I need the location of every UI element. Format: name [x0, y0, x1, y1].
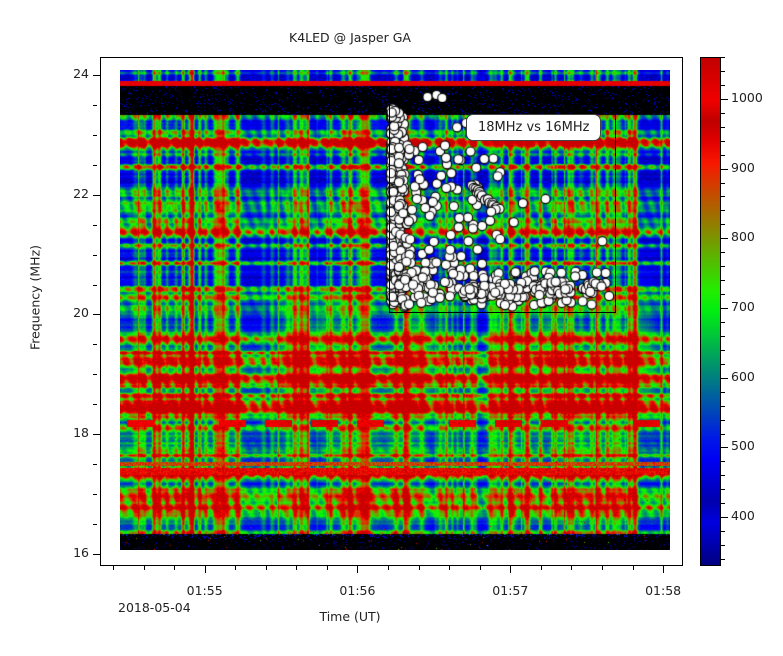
- y-tick-label: 18: [29, 425, 89, 440]
- y-tick-major: [93, 314, 100, 315]
- colorbar-tick-major: [721, 447, 728, 448]
- x-tick-minor: [571, 566, 572, 570]
- x-tick-major: [663, 566, 664, 573]
- colorbar-tick-minor: [721, 183, 725, 184]
- colorbar-tick-minor: [721, 196, 725, 197]
- y-tick-minor: [93, 524, 97, 525]
- x-tick-minor: [235, 566, 236, 570]
- colorbar-tick-minor: [721, 531, 725, 532]
- y-tick-major: [93, 434, 100, 435]
- y-tick-minor: [93, 404, 97, 405]
- x-tick-label: 01:56: [317, 583, 397, 598]
- x-tick-major: [357, 566, 358, 573]
- colorbar-tick-major: [721, 99, 728, 100]
- colorbar-tick-minor: [721, 280, 725, 281]
- colorbar-tick-minor: [721, 294, 725, 295]
- colorbar-tick-minor: [721, 224, 725, 225]
- colorbar-tick-minor: [721, 392, 725, 393]
- colorbar-tick-minor: [721, 252, 725, 253]
- x-tick-label: 01:58: [623, 583, 703, 598]
- y-axis-title: Frequency (MHz): [28, 203, 43, 393]
- colorbar-tick-major: [721, 169, 728, 170]
- y-tick-minor: [93, 285, 97, 286]
- colorbar-tick-minor: [721, 545, 725, 546]
- y-tick-minor: [93, 494, 97, 495]
- x-tick-minor: [419, 566, 420, 570]
- colorbar-tick-label: 400: [731, 508, 755, 523]
- colorbar-tick-minor: [721, 559, 725, 560]
- x-tick-minor: [296, 566, 297, 570]
- y-tick-minor: [93, 464, 97, 465]
- y-tick-minor: [93, 225, 97, 226]
- y-tick-label: 22: [29, 186, 89, 201]
- x-tick-minor: [174, 566, 175, 570]
- colorbar-tick-label: 800: [731, 229, 755, 244]
- y-tick-major: [93, 195, 100, 196]
- colorbar-tick-minor: [721, 364, 725, 365]
- colorbar-tick-label: 1000: [731, 90, 763, 105]
- colorbar-tick-minor: [721, 266, 725, 267]
- x-tick-minor: [602, 566, 603, 570]
- colorbar-tick-minor: [721, 57, 725, 58]
- page-title: K4LED @ Jasper GA: [0, 30, 700, 45]
- x-tick-minor: [449, 566, 450, 570]
- colorbar-tick-label: 500: [731, 438, 755, 453]
- y-tick-minor: [93, 165, 97, 166]
- y-tick-minor: [93, 344, 97, 345]
- y-tick-label: 16: [29, 545, 89, 560]
- x-tick-minor: [266, 566, 267, 570]
- x-tick-major: [205, 566, 206, 573]
- x-tick-minor: [541, 566, 542, 570]
- x-tick-minor: [327, 566, 328, 570]
- colorbar-tick-label: 600: [731, 369, 755, 384]
- x-tick-minor: [144, 566, 145, 570]
- colorbar-tick-minor: [721, 113, 725, 114]
- spectrogram-image: [120, 70, 670, 550]
- x-tick-label: 01:57: [470, 583, 550, 598]
- y-tick-major: [93, 75, 100, 76]
- colorbar-tick-minor: [721, 141, 725, 142]
- colorbar-tick-major: [721, 378, 728, 379]
- x-tick-minor: [388, 566, 389, 570]
- colorbar-tick-label: 900: [731, 160, 755, 175]
- y-tick-minor: [93, 374, 97, 375]
- colorbar-tick-minor: [721, 322, 725, 323]
- colorbar-tick-minor: [721, 489, 725, 490]
- x-tick-minor: [633, 566, 634, 570]
- colorbar-tick-major: [721, 308, 728, 309]
- colorbar-tick-minor: [721, 420, 725, 421]
- colorbar-tick-minor: [721, 406, 725, 407]
- colorbar-tick-major: [721, 517, 728, 518]
- colorbar: [700, 57, 721, 566]
- colorbar-tick-minor: [721, 503, 725, 504]
- x-axis-title: Time (UT): [0, 609, 700, 624]
- colorbar-tick-minor: [721, 475, 725, 476]
- colorbar-tick-minor: [721, 71, 725, 72]
- colorbar-tick-minor: [721, 210, 725, 211]
- colorbar-tick-minor: [721, 85, 725, 86]
- y-tick-label: 24: [29, 66, 89, 81]
- y-tick-major: [93, 554, 100, 555]
- colorbar-tick-minor: [721, 155, 725, 156]
- colorbar-tick-minor: [721, 350, 725, 351]
- figure-canvas: K4LED @ Jasper GA 18MHz vs 16MHz Frequen…: [0, 0, 783, 656]
- colorbar-tick-minor: [721, 336, 725, 337]
- colorbar-tick-minor: [721, 461, 725, 462]
- colorbar-tick-minor: [721, 127, 725, 128]
- annotation-label: 18MHz vs 16MHz: [466, 114, 601, 141]
- x-tick-minor: [113, 566, 114, 570]
- colorbar-tick-minor: [721, 434, 725, 435]
- x-tick-label: 01:55: [165, 583, 245, 598]
- colorbar-tick-major: [721, 238, 728, 239]
- colorbar-tick-label: 700: [731, 299, 755, 314]
- y-tick-minor: [93, 105, 97, 106]
- x-tick-minor: [480, 566, 481, 570]
- y-tick-label: 20: [29, 305, 89, 320]
- y-tick-minor: [93, 255, 97, 256]
- x-tick-major: [510, 566, 511, 573]
- x-axis-date-label: 2018-05-04: [118, 600, 191, 615]
- y-tick-minor: [93, 135, 97, 136]
- colorbar-gradient: [701, 58, 720, 565]
